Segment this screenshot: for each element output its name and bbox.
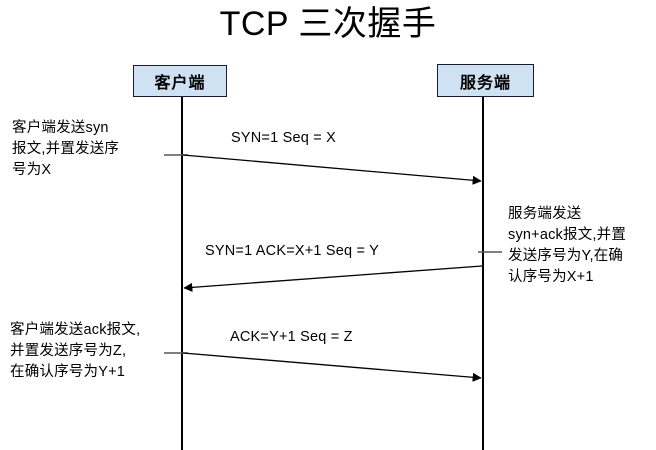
participant-box-server: 服务端 [437,64,534,97]
message-arrow-syn-ack [184,266,482,288]
diagram-canvas: TCP 三次握手 客户端 服务端 SYN=1 Seq = X SYN=1 ACK… [0,0,656,450]
participant-box-client: 客户端 [133,65,227,97]
message-label-syn-ack: SYN=1 ACK=X+1 Seq = Y [205,243,379,259]
message-arrow-syn [183,155,481,181]
participant-label-client: 客户端 [154,69,205,93]
message-arrow-ack [183,353,481,378]
annotation-step1: 客户端发送syn 报文,并置发送序 号为X [12,118,182,181]
message-label-syn: SYN=1 Seq = X [231,130,336,146]
annotation-step2: 服务端发送 syn+ack报文,并置 发送序号为Y,在确 认序号为X+1 [508,204,656,288]
page-title: TCP 三次握手 [0,2,656,46]
participant-label-server: 服务端 [460,69,511,93]
message-label-ack: ACK=Y+1 Seq = Z [230,329,353,345]
annotation-step3: 客户端发送ack报文, 并置发送序号为Z, 在确认序号为Y+1 [10,320,186,383]
